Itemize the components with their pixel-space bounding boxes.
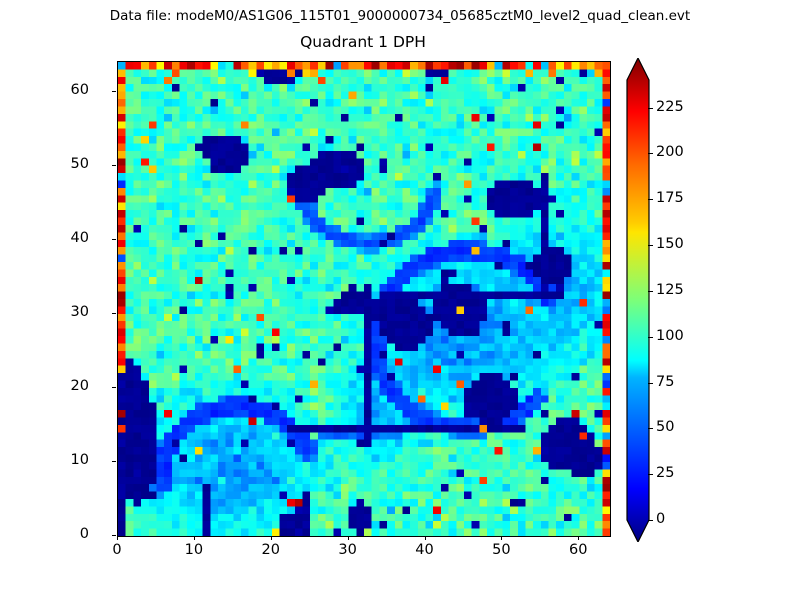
colorbar-tick-label: 25	[656, 465, 674, 481]
colorbar-tick-label: 175	[656, 190, 684, 206]
x-tick-label: 30	[328, 542, 368, 558]
colorbar-tick-mark	[648, 383, 653, 384]
x-tick-label: 60	[558, 542, 598, 558]
y-tick-label: 50	[71, 156, 89, 172]
colorbar	[626, 58, 650, 542]
y-tick-mark	[112, 91, 116, 92]
colorbar-tick-mark	[648, 108, 653, 109]
x-tick-label: 20	[251, 542, 291, 558]
x-tick-label: 10	[174, 542, 214, 558]
x-tick-mark	[425, 536, 426, 540]
colorbar-tick-label: 125	[656, 282, 684, 298]
colorbar-tick-label: 50	[656, 419, 674, 435]
colorbar-tick-mark	[648, 245, 653, 246]
y-tick-mark	[112, 165, 116, 166]
y-tick-mark	[112, 387, 116, 388]
x-tick-mark	[271, 536, 272, 540]
colorbar-tick-mark	[648, 520, 653, 521]
colorbar-tick-label: 0	[656, 511, 665, 527]
y-tick-label: 10	[71, 452, 89, 468]
x-tick-mark	[117, 536, 118, 540]
colorbar-tick-label: 225	[656, 99, 684, 115]
y-tick-label: 40	[71, 230, 89, 246]
dph-heatmap-image	[118, 62, 610, 536]
matplotlib-figure: Data file: modeM0/AS1G06_115T01_90000007…	[0, 0, 800, 600]
y-tick-mark	[112, 535, 116, 536]
colorbar-tick-label: 75	[656, 374, 674, 390]
heatmap-axes	[117, 61, 611, 537]
colorbar-tick-mark	[648, 199, 653, 200]
y-tick-label: 30	[71, 304, 89, 320]
y-tick-label: 0	[80, 526, 89, 542]
colorbar-tick-label: 100	[656, 328, 684, 344]
colorbar-tick-label: 200	[656, 144, 684, 160]
colorbar-tick-label: 150	[656, 236, 684, 252]
x-tick-mark	[501, 536, 502, 540]
y-tick-label: 60	[71, 82, 89, 98]
y-tick-mark	[112, 461, 116, 462]
y-tick-label: 20	[71, 378, 89, 394]
colorbar-tick-mark	[648, 153, 653, 154]
x-tick-mark	[578, 536, 579, 540]
x-tick-mark	[348, 536, 349, 540]
figure-suptitle: Data file: modeM0/AS1G06_115T01_90000007…	[0, 8, 800, 24]
axes-title: Quadrant 1 DPH	[117, 33, 609, 51]
x-tick-mark	[194, 536, 195, 540]
colorbar-tick-mark	[648, 474, 653, 475]
x-tick-label: 50	[481, 542, 521, 558]
y-tick-mark	[112, 239, 116, 240]
y-tick-mark	[112, 313, 116, 314]
colorbar-gradient	[626, 58, 650, 542]
colorbar-tick-mark	[648, 337, 653, 338]
x-tick-label: 40	[405, 542, 445, 558]
colorbar-tick-mark	[648, 291, 653, 292]
colorbar-tick-mark	[648, 428, 653, 429]
x-tick-label: 0	[97, 542, 137, 558]
